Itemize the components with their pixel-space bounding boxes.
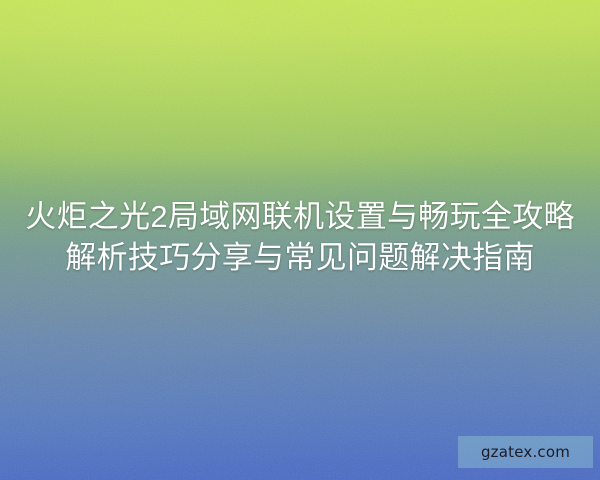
- banner-title-line-1: 火炬之光2局域网联机设置与畅玩全攻略: [14, 196, 586, 237]
- site-watermark: gzatex.com: [458, 436, 593, 468]
- banner-title-line-2: 解析技巧分享与常见问题解决指南: [14, 237, 586, 278]
- banner-title: 火炬之光2局域网联机设置与畅玩全攻略 解析技巧分享与常见问题解决指南: [0, 196, 600, 278]
- site-watermark-text: gzatex.com: [481, 445, 570, 460]
- article-banner-image: 火炬之光2局域网联机设置与畅玩全攻略 解析技巧分享与常见问题解决指南 gzate…: [0, 0, 600, 480]
